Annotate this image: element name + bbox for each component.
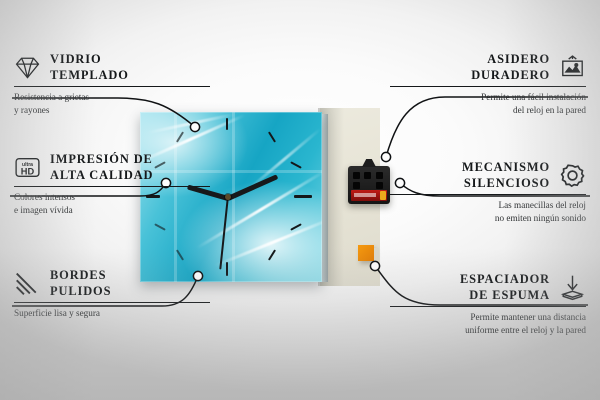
- clock-movement: [348, 166, 390, 204]
- feature-mecanismo-silencioso: MECANISMO SILENCIOSO Las manecillas del …: [390, 160, 586, 224]
- picture-frame-icon: [559, 54, 586, 81]
- arrow-down-pad-icon: [559, 274, 586, 301]
- feature-description: Las manecillas del reloj no emiten ningú…: [390, 199, 586, 224]
- feature-title: VIDRIO TEMPLADO: [50, 52, 129, 83]
- feature-description: Resistencia a grietas y rayones: [14, 91, 210, 116]
- feature-header: VIDRIO TEMPLADO: [14, 52, 210, 83]
- feature-description: Permite mantener una distancia uniforme …: [390, 311, 586, 336]
- feature-bordes-pulidos: BORDES PULIDOS Superficie lisa y segura: [14, 268, 210, 320]
- divider: [14, 186, 210, 187]
- gear-icon: [559, 162, 586, 189]
- feature-vidrio-templado: VIDRIO TEMPLADO Resistencia a grietas y …: [14, 52, 210, 116]
- battery: [351, 190, 387, 201]
- foam-spacer: [358, 245, 374, 261]
- clock-hub: [225, 194, 231, 200]
- divider: [390, 86, 586, 87]
- divider: [390, 194, 586, 195]
- feature-description: Colores intensos e imagen vívida: [14, 191, 210, 216]
- feature-title: MECANISMO SILENCIOSO: [462, 160, 550, 191]
- glass-edge: [322, 114, 328, 282]
- divider: [14, 86, 210, 87]
- foam-spacer-side: [374, 248, 379, 264]
- feature-title: ASIDERO DURADERO: [471, 52, 550, 83]
- feature-description: Permite una fácil instalación del reloj …: [390, 91, 586, 116]
- feature-asidero-duradero: ASIDERO DURADERO Permite una fácil insta…: [390, 52, 586, 116]
- divider: [14, 302, 210, 303]
- feature-impresion-alta-calidad: ultra HD IMPRESIÓN DE ALTA CALIDAD Color…: [14, 152, 210, 216]
- feature-header: ESPACIADOR DE ESPUMA: [390, 272, 586, 303]
- feature-header: MECANISMO SILENCIOSO: [390, 160, 586, 191]
- feature-espaciador-de-espuma: ESPACIADOR DE ESPUMA Permite mantener un…: [390, 272, 586, 336]
- ultra-hd-icon: ultra HD: [14, 154, 41, 181]
- feature-header: ASIDERO DURADERO: [390, 52, 586, 83]
- feature-description: Superficie lisa y segura: [14, 307, 210, 319]
- infographic-canvas: VIDRIO TEMPLADO Resistencia a grietas y …: [0, 0, 600, 400]
- diamond-icon: [14, 54, 41, 81]
- divider: [390, 306, 586, 307]
- feature-title: ESPACIADOR DE ESPUMA: [460, 272, 550, 303]
- svg-text:HD: HD: [21, 166, 35, 176]
- diagonal-lines-icon: [14, 270, 41, 297]
- feature-title: BORDES PULIDOS: [50, 268, 111, 299]
- feature-header: ultra HD IMPRESIÓN DE ALTA CALIDAD: [14, 152, 210, 183]
- feature-header: BORDES PULIDOS: [14, 268, 210, 299]
- feature-title: IMPRESIÓN DE ALTA CALIDAD: [50, 152, 153, 183]
